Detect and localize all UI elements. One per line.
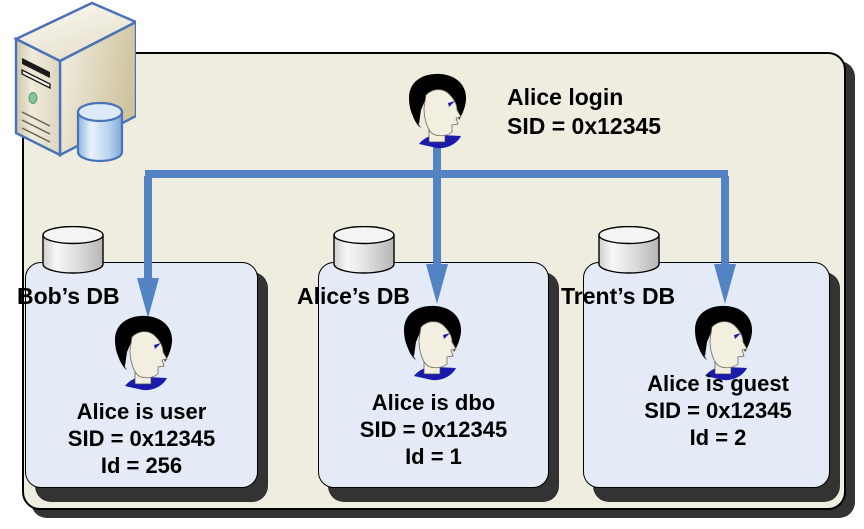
arrow-down-icon: [426, 264, 448, 304]
login-label: Alice loginSID = 0x12345: [507, 83, 661, 141]
database-cylinder-icon: [78, 103, 122, 161]
diagram-canvas: Alice loginSID = 0x12345 Bob’s DB Alice’…: [0, 0, 864, 529]
power-led-icon: [29, 93, 37, 104]
database-cylinder-icon: [41, 226, 105, 274]
db-name-alices: Alice’s DB: [297, 283, 410, 310]
db-name-bobs: Bob’s DB: [17, 283, 120, 310]
connector-bus-icon: [144, 176, 152, 278]
db-user-sid: SID = 0x12345: [68, 426, 215, 451]
database-cylinder-icon: [597, 226, 661, 274]
arrow-down-icon: [714, 264, 736, 304]
db-user-id: Id = 2: [690, 425, 747, 450]
connector-bus-icon: [433, 176, 441, 264]
db-user-sid: SID = 0x12345: [644, 398, 791, 423]
login-line-2: SID = 0x12345: [507, 113, 661, 139]
connector-bus-icon: [721, 176, 729, 264]
db-user-role: Alice is dbo: [372, 390, 495, 415]
db-user-id: Id = 256: [101, 453, 182, 478]
alice-person-icon: [399, 70, 481, 154]
db-user-info-bobs: Alice is userSID = 0x12345Id = 256: [25, 398, 258, 479]
db-user-id: Id = 1: [405, 444, 462, 469]
login-line-1: Alice login: [507, 84, 623, 110]
db-user-sid: SID = 0x12345: [360, 417, 507, 442]
alice-person-icon: [394, 302, 476, 386]
db-user-role: Alice is user: [77, 399, 207, 424]
database-cylinder-icon: [332, 226, 396, 274]
db-user-info-trents: Alice is guestSID = 0x12345Id = 2: [606, 370, 830, 451]
db-name-trents: Trent’s DB: [561, 283, 675, 310]
db-user-info-alices: Alice is dboSID = 0x12345Id = 1: [318, 389, 549, 470]
server-tower-icon: [0, 0, 136, 166]
alice-person-icon: [105, 312, 187, 396]
db-user-role: Alice is guest: [647, 371, 789, 396]
